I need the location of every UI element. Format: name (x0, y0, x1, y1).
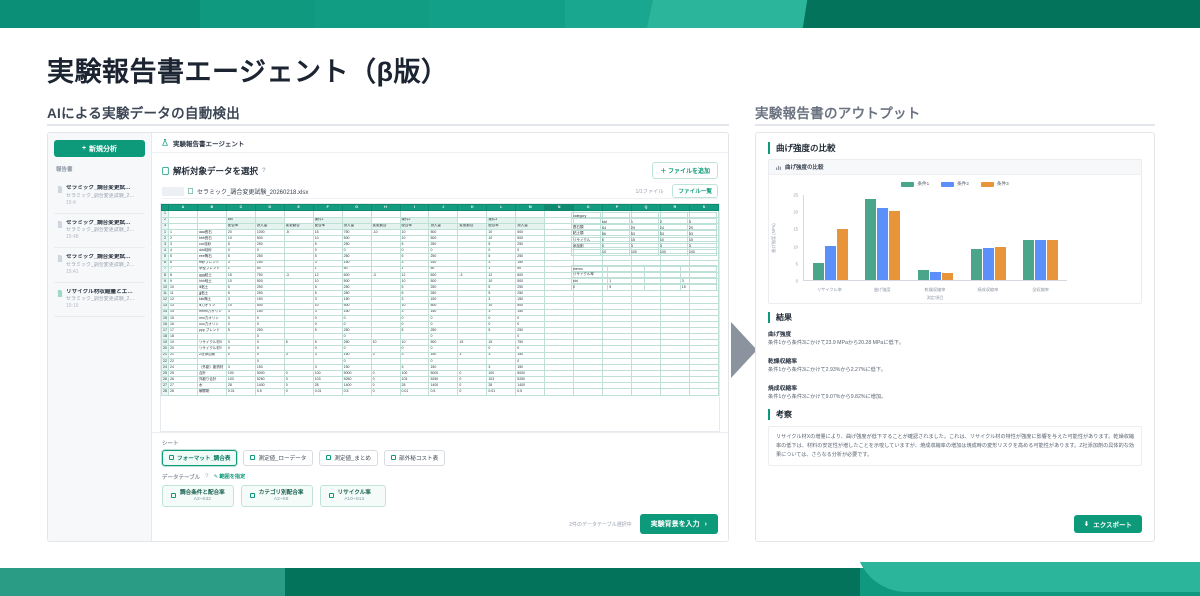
memo-row[interactable]: 0515 (572, 284, 717, 290)
value-cell[interactable]: 0.01 (400, 389, 429, 395)
report-subtitle: セラミック_調合変更試験_2… (66, 296, 134, 303)
select-data-bar: 解析対象データを選択 ? ＋ ファイルを追加 (152, 153, 728, 184)
bar-条件3-焼成収縮率 (995, 247, 1006, 280)
report-footer: ⬇ エクスポート (756, 509, 1154, 541)
document-icon (57, 255, 63, 262)
report-title: セラミック_調合変更試… (66, 254, 134, 262)
discussion-text: リサイクル材Xの増量により、曲げ強度が低下することが確認されました。これは、リサ… (776, 433, 1134, 459)
flask-icon (162, 139, 168, 146)
help-icon[interactable]: ? (262, 168, 266, 174)
legend-label: 条件1 (917, 181, 929, 187)
chart-bar-icon (776, 165, 781, 170)
file-name: セラミック_調合変更試験_20260218.xlsx (197, 187, 308, 196)
chart-container: 曲げ強度の比較 条件1 条件2 条件3 (768, 159, 1142, 304)
card-range: A2~S8 (259, 497, 304, 502)
result-title: 乾燥収縮率 (768, 356, 1142, 365)
export-button[interactable]: ⬇ エクスポート (1074, 515, 1142, 533)
bar-条件2-曲げ強度 (877, 208, 888, 280)
add-file-button[interactable]: ＋ ファイルを追加 (652, 162, 718, 179)
index-cell[interactable]: 28 (169, 389, 198, 395)
cell[interactable]: 0 (572, 284, 608, 290)
x-tick-label: 全収縮率 (1014, 287, 1067, 293)
left-divider (47, 124, 729, 126)
top-decorative-band (0, 0, 1200, 28)
x-tick-label: リサイクル率 (803, 287, 856, 293)
bar-group (909, 195, 962, 280)
bar-条件1-リサイクル率 (813, 263, 824, 280)
chart-y-axis: 曲げ強度 (MPa) 0510152025 (769, 195, 802, 281)
value-cell[interactable]: 0.5 (342, 389, 371, 395)
check-icon (250, 455, 255, 460)
list-item[interactable]: セラミック_調合変更試… セラミック_調合変更試験_2… 15:48 (54, 214, 145, 249)
value-cell[interactable]: 0 (284, 389, 313, 395)
table-row[interactable]: 2828解膠剤0.010.500.010.500.010.500.010.5 (162, 389, 719, 395)
side-tables: categorystd123長石類44292429粘土類56535353リサイク… (571, 212, 717, 300)
result-item-bending: 曲げ強度 条件1から条件3にかけて23.9 MPaから20.28 MPaに低下。 (768, 329, 1142, 348)
legend-swatch (941, 182, 954, 187)
left-section-subtitle: AIによる実験データの自動検出 (47, 102, 240, 122)
file-count: 1/1ファイル (635, 188, 663, 195)
results-heading: 結果 (768, 312, 1142, 323)
chart-plot-area: 条件1 条件2 条件3 曲げ強度 (MPa) 0510152025 (769, 175, 1141, 303)
bar-group (1014, 195, 1067, 280)
value-cell[interactable]: 0.01 (313, 389, 342, 395)
card-range: A2~S32 (180, 497, 225, 502)
row-number[interactable]: 28 (162, 389, 169, 395)
cell[interactable] (574, 389, 603, 395)
datatable-header-row: データテーブル ? ✎ 範囲を指定 (162, 473, 718, 481)
new-analysis-label: 新規分析 (89, 144, 117, 154)
tab-measurement-summary[interactable]: 測定値_まとめ (319, 450, 378, 466)
legend-swatch (901, 182, 914, 187)
y-tick: 20 (793, 210, 798, 215)
card-range: A10~S13 (338, 497, 371, 502)
tab-label: 部外秘コスト表 (399, 454, 438, 462)
cell[interactable] (644, 284, 680, 290)
xlsx-icon (188, 188, 193, 194)
specify-range-link[interactable]: ✎ 範囲を指定 (214, 473, 246, 480)
check-icon (329, 493, 334, 498)
spreadsheet-preview[interactable]: ABCDEFGHIJKLMNOPQRS 12std条件1条件2条件33配合率投入… (160, 203, 720, 432)
file-list-button[interactable]: ファイル一覧 (672, 184, 718, 198)
bottom-decorative-band (0, 562, 1200, 596)
discussion-box: リサイクル材Xの増量により、曲げ強度が低下することが確認されました。これは、リサ… (768, 426, 1142, 466)
bar-条件2-焼成収縮率 (983, 248, 994, 280)
report-time: 15:4 (66, 200, 134, 207)
selected-file-row[interactable]: セラミック_調合変更試験_20260218.xlsx 1/1ファイル ファイル一… (162, 184, 718, 199)
report-time: 15:48 (66, 234, 134, 241)
file-data-icon (162, 167, 169, 175)
value-cell[interactable]: 0 (371, 389, 400, 395)
x-tick-label: 焼成収縮率 (961, 287, 1014, 293)
arrow-right-icon: › (705, 521, 707, 528)
primary-label: 実験背景を入力 (651, 519, 700, 529)
cell[interactable] (660, 389, 689, 395)
check-icon (250, 493, 255, 498)
chart-x-labels: リサイクル率曲げ強度乾燥収縮率焼成収縮率全収縮率 (803, 287, 1067, 293)
report-subtitle: セラミック_調合変更試験_2… (66, 227, 134, 234)
agent-name: 実験報告書エージェント (173, 138, 244, 148)
y-tick: 15 (793, 227, 798, 232)
document-icon (57, 221, 63, 228)
result-item-firing: 焼成収縮率 条件1から条件3にかけて9.07%から9.82%に増加。 (768, 383, 1142, 402)
document-icon (57, 186, 63, 193)
right-section-subtitle: 実験報告書のアウトプット (755, 102, 921, 122)
slide-root: 実験報告書エージェント（β版） AIによる実験データの自動検出 実験報告書のアウ… (0, 0, 1200, 596)
select-data-title: 解析対象データを選択 ? (162, 165, 266, 177)
value-cell[interactable]: 0.5 (429, 389, 458, 395)
bar-条件1-全収縮率 (1023, 240, 1034, 280)
check-icon (171, 493, 176, 498)
report-body: 結果 曲げ強度 条件1から条件3にかけて23.9 MPaから20.28 MPaに… (756, 304, 1154, 509)
material-name[interactable]: 解膠剤 (197, 389, 226, 395)
export-label: エクスポート (1093, 519, 1132, 529)
x-tick-label: 乾燥収縮率 (909, 287, 962, 293)
check-icon (391, 455, 396, 460)
page-title: 実験報告書エージェント（β版） (47, 50, 448, 89)
cell[interactable] (689, 389, 718, 395)
report-subtitle: セラミック_調合変更試験_2… (66, 193, 134, 200)
legend-label: 条件2 (957, 181, 969, 187)
export-icon: ⬇ (1084, 520, 1089, 528)
chart-bars (803, 195, 1067, 281)
reports-section-label: 報告書 (54, 165, 145, 173)
datatable-cards: 調合条件と配合率 A2~S32 カテゴリ別配合率 A2~S8 (162, 485, 718, 507)
tab-label: フォーマット_調合表 (177, 454, 230, 462)
legend-item-1: 条件1 (901, 181, 929, 187)
tab-label: 測定値_まとめ (334, 454, 371, 462)
value-cell[interactable]: 0.01 (487, 389, 516, 395)
report-list: セラミック_調合変更試… セラミック_調合変更試験_2… 15:4 セラミック_… (54, 179, 145, 317)
check-icon (326, 455, 331, 460)
value-cell[interactable]: 0.01 (226, 389, 255, 395)
cell[interactable]: 100 (688, 249, 717, 255)
report-title: リサイクル材収縮量とエ… (66, 289, 134, 297)
chart-caption-label: 曲げ強度の比較 (785, 163, 824, 171)
bar-条件2-全収縮率 (1035, 240, 1046, 280)
chart-legend: 条件1 条件2 条件3 (775, 179, 1135, 187)
cell[interactable]: 100 (659, 249, 688, 255)
value-cell[interactable]: 0 (458, 389, 487, 395)
sheet-section-label: シート (162, 439, 718, 447)
cell[interactable] (603, 389, 632, 395)
discussion-heading: 考察 (768, 409, 1142, 420)
datatable-card-mix-conditions[interactable]: 調合条件と配合率 A2~S32 (162, 485, 234, 507)
result-title: 曲げ強度 (768, 329, 1142, 338)
report-title: セラミック_調合変更試… (66, 185, 134, 193)
cell[interactable] (545, 389, 574, 395)
cell[interactable]: 5 (608, 284, 644, 290)
cell[interactable] (572, 249, 601, 255)
bar-条件3-曲げ強度 (889, 211, 900, 280)
cell[interactable]: 10 (601, 249, 630, 255)
report-header: 曲げ強度の比較 (756, 133, 1154, 159)
datatable-card-recycle-rate[interactable]: リサイクル率 A10~S13 (320, 485, 386, 507)
bar-条件3-乾燥収縮率 (942, 273, 953, 280)
document-icon (57, 290, 63, 297)
bar-条件1-焼成収縮率 (971, 249, 982, 280)
file-thumb (162, 187, 184, 196)
app-footer: 2件のデータテーブル選択中 実験背景を入力 › (162, 514, 718, 534)
y-tick: 25 (793, 193, 798, 198)
selection-note: 2件のデータテーブル選択中 (569, 521, 631, 528)
tab-confidential-cost[interactable]: 部外秘コスト表 (384, 450, 445, 466)
result-desc: 条件1から条件3にかけて9.07%から9.82%に増加。 (768, 394, 1142, 402)
new-analysis-button[interactable]: + 新規分析 (54, 140, 145, 157)
right-divider (755, 124, 1155, 126)
report-panel: 曲げ強度の比較 曲げ強度の比較 条件1 (755, 132, 1155, 542)
result-title: 焼成収縮率 (768, 383, 1142, 392)
legend-item-3: 条件3 (981, 181, 1009, 187)
category-row[interactable]: 10100100100 (572, 249, 717, 255)
bar-条件3-リサイクル率 (837, 229, 848, 280)
tab-label: 測定値_ローデータ (258, 454, 306, 462)
app-window: + 新規分析 報告書 セラミック_調合変更試… セラミック_調合変更試験_2… … (47, 132, 729, 542)
report-time: 15:41 (66, 269, 134, 276)
bar-group (962, 195, 1015, 280)
card-title: リサイクル率 (338, 490, 371, 497)
list-item[interactable]: セラミック_調合変更試… セラミック_調合変更試験_2… 15:41 (54, 248, 145, 283)
specify-range-label: 範囲を指定 (219, 474, 245, 480)
report-subtitle: セラミック_調合変更試験_2… (66, 262, 134, 269)
y-tick: 0 (796, 279, 798, 284)
agent-header: 実験報告書エージェント (152, 133, 728, 153)
bar-条件1-曲げ強度 (865, 199, 876, 280)
list-item[interactable]: セラミック_調合変更試… セラミック_調合変更試験_2… 15:4 (54, 179, 145, 214)
datatable-section-label: データテーブル (162, 473, 200, 481)
bar-条件1-乾燥収縮率 (918, 270, 929, 280)
card-title: カテゴリ別配合率 (259, 490, 304, 497)
legend-label: 条件3 (997, 181, 1009, 187)
bar-group (857, 195, 910, 280)
value-cell[interactable]: 0.5 (255, 389, 284, 395)
tab-format-chogohyo[interactable]: フォーマット_調合表 (162, 450, 237, 466)
legend-swatch (981, 182, 994, 187)
help-icon[interactable]: ? (205, 474, 208, 480)
plus-icon: + (82, 145, 86, 152)
flow-arrow-icon (731, 322, 757, 378)
app-content: 実験報告書エージェント 解析対象データを選択 ? ＋ ファイルを追加 セラミック… (152, 133, 728, 541)
bar-条件2-リサイクル率 (825, 246, 836, 280)
cell[interactable] (632, 389, 661, 395)
x-axis-title: 測定項目 (803, 295, 1067, 301)
card-title: 調合条件と配合率 (180, 490, 225, 497)
sidebar: + 新規分析 報告書 セラミック_調合変更試… セラミック_調合変更試験_2… … (48, 133, 152, 541)
y-tick: 10 (793, 244, 798, 249)
result-desc: 条件1から条件3にかけて23.9 MPaから20.28 MPaに低下。 (768, 340, 1142, 348)
y-tick: 5 (796, 261, 798, 266)
cell[interactable]: 15 (680, 284, 716, 290)
tab-measurement-rawdata[interactable]: 測定値_ローデータ (243, 450, 313, 466)
cell[interactable]: 100 (630, 249, 659, 255)
legend-item-2: 条件2 (941, 181, 969, 187)
report-title: セラミック_調合変更試… (66, 220, 134, 228)
bar-条件2-乾燥収縮率 (930, 272, 941, 281)
result-item-drying: 乾燥収縮率 条件1から条件3にかけて2.93%から2.27%に低下。 (768, 356, 1142, 375)
datatable-card-category-ratio[interactable]: カテゴリ別配合率 A2~S8 (241, 485, 313, 507)
memo-table[interactable]: memoリサイクル率std130515 (571, 265, 717, 291)
check-icon (169, 455, 174, 460)
report-time: 15:16 (66, 303, 134, 310)
y-axis-title: 曲げ強度 (MPa) (771, 223, 777, 252)
sheet-tabs: フォーマット_調合表 測定値_ローデータ 測定値_まとめ 部外秘コスト表 (162, 450, 718, 466)
bottom-controls: シート フォーマット_調合表 測定値_ローデータ 測定値_まとめ (152, 432, 728, 541)
report-chart-heading: 曲げ強度の比較 (768, 142, 1142, 154)
select-data-label: 解析対象データを選択 (173, 165, 258, 177)
x-tick-label: 曲げ強度 (856, 287, 909, 293)
value-cell[interactable]: 0.5 (516, 389, 545, 395)
chart-caption: 曲げ強度の比較 (769, 160, 1141, 175)
category-table[interactable]: categorystd123長石類44292429粘土類56535353リサイク… (571, 212, 717, 256)
enter-background-button[interactable]: 実験背景を入力 › (640, 514, 718, 534)
bar-条件3-全収縮率 (1047, 240, 1058, 280)
bar-group (804, 195, 857, 280)
result-desc: 条件1から条件3にかけて2.93%から2.27%に低下。 (768, 367, 1142, 375)
list-item[interactable]: リサイクル材収縮量とエ… セラミック_調合変更試験_2… 15:16 (54, 283, 145, 318)
